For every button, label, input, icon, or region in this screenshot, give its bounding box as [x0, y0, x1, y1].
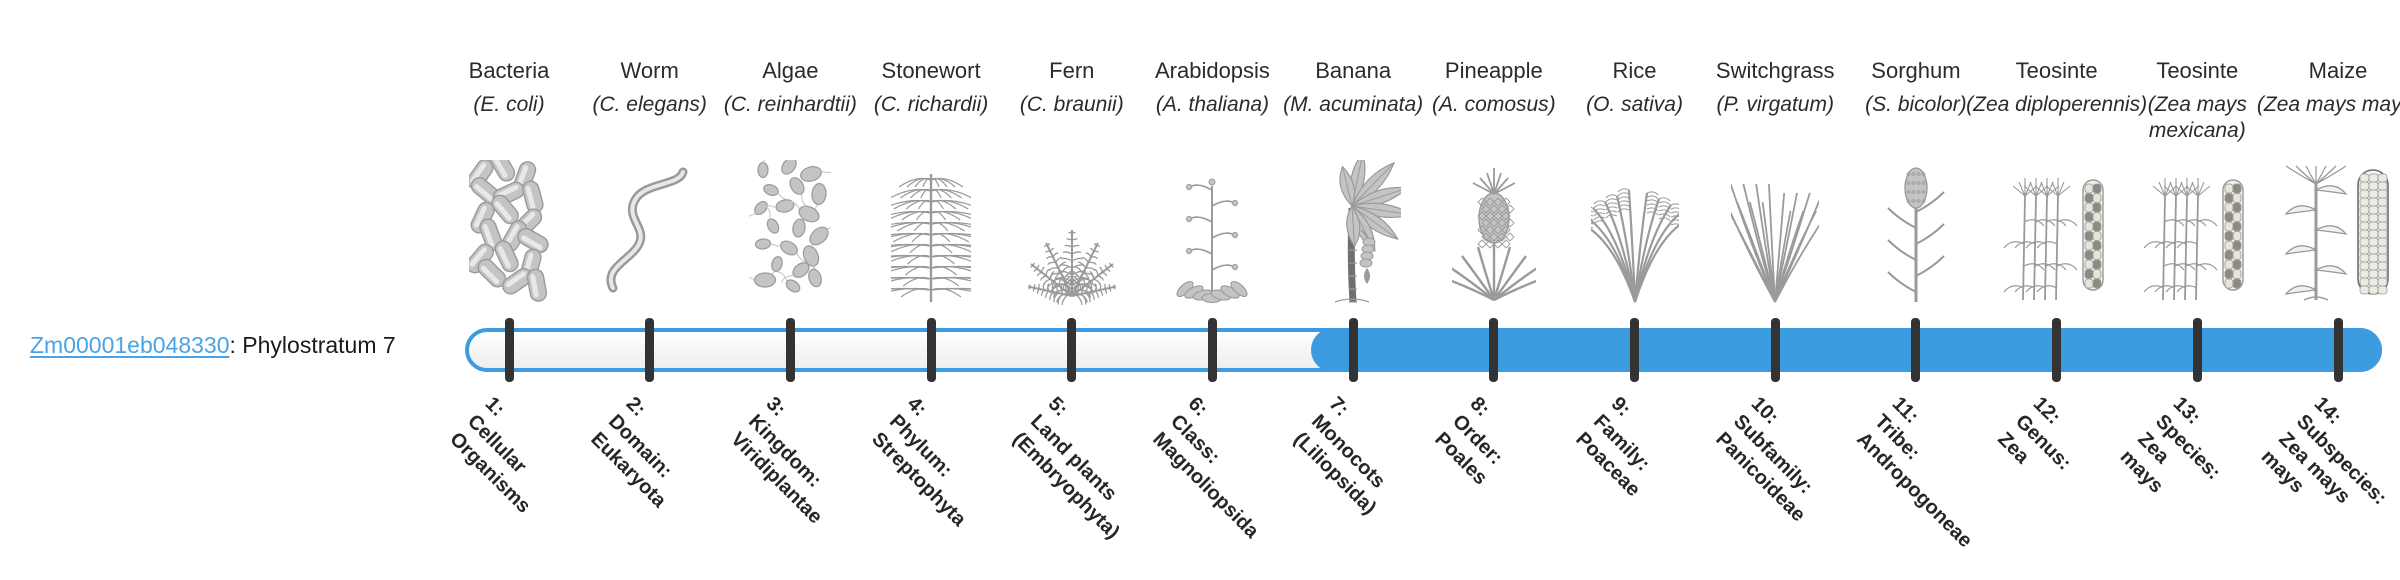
gene-id-link[interactable]: Zm00001eb048330 [30, 332, 230, 358]
species-common-name: Maize [2243, 58, 2400, 84]
gene-label-separator: : [230, 332, 243, 358]
species-scientific-name: (Zea mays mays) [2243, 92, 2400, 118]
gene-phylostratum-label: Zm00001eb048330: Phylostratum 7 [30, 331, 450, 359]
maize-plant-and-cob-icon [2243, 160, 2400, 305]
gene-phylostratum-value: Phylostratum 7 [242, 332, 395, 358]
phylostratigraphy-figure: Zm00001eb048330: Phylostratum 7 Bacteria… [0, 0, 2400, 580]
timeline-track-area: Bacteria(E. coli)Worm(C. elegans)Algae(C… [465, 0, 2382, 580]
